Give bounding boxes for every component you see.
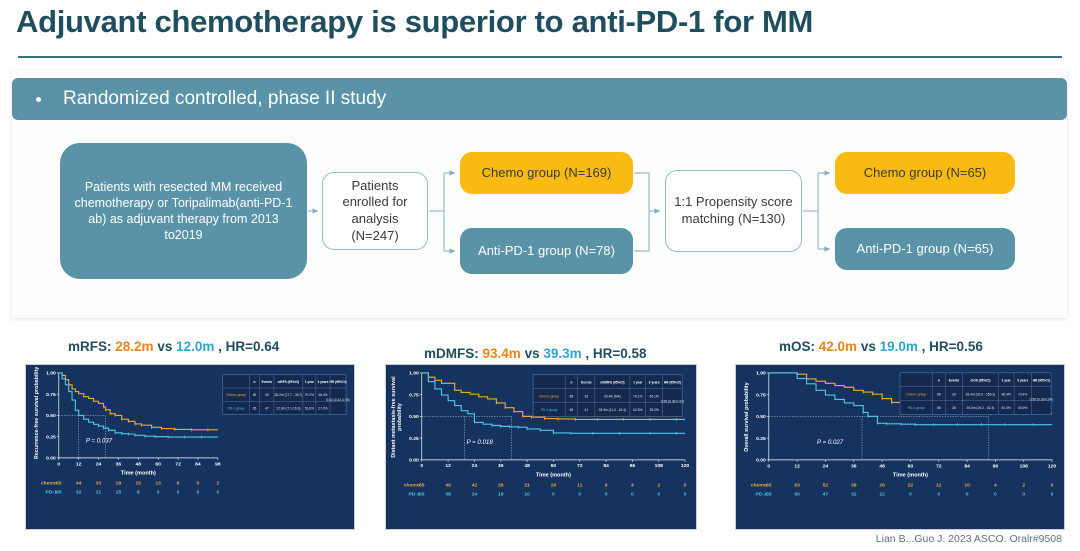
risk-value: 10 — [964, 483, 970, 489]
flow-node-patients: Patients with resected MM received chemo… — [60, 143, 307, 279]
caption-os-vs: vs — [861, 339, 876, 354]
risk-value: 32 — [76, 489, 82, 495]
svg-text:mDMFS (95%CI): mDMFS (95%CI) — [600, 380, 624, 384]
risk-value: 0 — [909, 491, 912, 497]
risk-label-chemo: chemo — [41, 481, 57, 487]
risk-value: 65 — [56, 481, 62, 487]
stats-table-dmfs: nEventsmDMFS (95%CI)1 year3 yearsHR (95%… — [533, 375, 684, 416]
svg-text:0: 0 — [57, 461, 60, 467]
risk-label-chemo: chemo — [751, 483, 767, 489]
risk-value: 33 — [96, 481, 102, 487]
svg-text:93.4m (31.6 - 155.2): 93.4m (31.6 - 155.2) — [966, 392, 996, 396]
study-design-banner: Randomized controlled, phase II study — [12, 78, 1067, 120]
risk-value: 26 — [879, 483, 885, 489]
svg-text:12: 12 — [794, 463, 800, 469]
svg-text:92.3%: 92.3% — [1001, 406, 1010, 410]
svg-text:1 year: 1 year — [633, 380, 643, 384]
svg-text:3 years: 3 years — [317, 380, 328, 384]
svg-text:96: 96 — [993, 463, 999, 469]
risk-value: 38 — [445, 491, 451, 497]
caption-dmfs-hr: , HR=0.58 — [585, 346, 646, 361]
risk-value: 22 — [908, 483, 914, 489]
km-curve-pd-1-group — [59, 373, 218, 437]
study-design-text: Randomized controlled, phase II study — [63, 88, 386, 110]
svg-text:Chemo group: Chemo group — [539, 394, 559, 398]
svg-text:65: 65 — [570, 394, 574, 398]
risk-value: 15 — [116, 489, 122, 495]
svg-text:93.4m (NA): 93.4m (NA) — [604, 394, 621, 398]
risk-value: 0 — [684, 483, 687, 489]
flow-node-chemo-pre: Chemo group (N=169) — [460, 152, 633, 194]
risk-value: 2 — [216, 481, 219, 487]
risk-value: 44 — [76, 481, 82, 487]
svg-text:96: 96 — [215, 461, 221, 467]
svg-text:P = 0.018: P = 0.018 — [467, 439, 494, 446]
risk-value: 0 — [197, 489, 200, 495]
svg-text:0.75: 0.75 — [46, 392, 56, 398]
svg-text:0.50: 0.50 — [756, 414, 766, 420]
svg-text:3 years: 3 years — [1017, 378, 1028, 382]
svg-text:108: 108 — [1020, 463, 1029, 469]
risk-value: 0 — [1051, 483, 1054, 489]
km-chart-rfs: 0.000.250.500.751.0001224364860728496Tim… — [26, 365, 354, 529]
caption-os-chemo: 42.0m — [819, 339, 857, 354]
svg-text:0.58 (0.36-0.93): 0.58 (0.36-0.93) — [661, 400, 684, 404]
km-curve-chemo-group — [59, 373, 218, 430]
svg-text:3 years: 3 years — [649, 380, 660, 384]
svg-text:Time (month): Time (month) — [121, 471, 156, 477]
flow-node-enrolled: Patients enrolled for analysis (N=247) — [322, 172, 428, 250]
risk-value: 0 — [157, 489, 160, 495]
svg-text:48: 48 — [136, 461, 142, 467]
risk-value: 15 — [136, 481, 142, 487]
svg-text:65: 65 — [253, 406, 257, 410]
svg-text:HR (95%CI): HR (95%CI) — [330, 380, 347, 384]
svg-text:84: 84 — [195, 461, 201, 467]
km-plot-os: 0.000.250.500.751.0001224364860728496108… — [735, 364, 1065, 530]
caption-os-prefix: mOS: — [779, 339, 815, 354]
svg-text:79.1%: 79.1% — [633, 394, 642, 398]
svg-text:36: 36 — [116, 461, 122, 467]
caption-os: mOS: 42.0m vs 19.0m , HR=0.56 — [779, 339, 983, 354]
svg-text:38.2%: 38.2% — [650, 408, 659, 412]
svg-text:Events: Events — [581, 380, 592, 384]
risk-value: 26 — [498, 483, 504, 489]
svg-text:n: n — [570, 380, 572, 384]
svg-text:60: 60 — [155, 461, 161, 467]
risk-value: 32 — [851, 491, 857, 497]
svg-text:PD-1 group: PD-1 group — [541, 408, 558, 412]
svg-text:120: 120 — [681, 463, 690, 469]
caption-dmfs: mDMFS: 93.4m vs 39.3m , HR=0.58 — [424, 346, 647, 361]
svg-text:12: 12 — [76, 461, 82, 467]
risk-value: 2 — [657, 483, 660, 489]
stats-table-os: nEventsmOS (95%CI)1 year3 yearsHR (95%CI… — [900, 373, 1053, 414]
risk-value: 0 — [994, 491, 997, 497]
svg-text:24: 24 — [823, 463, 829, 469]
svg-text:1.00: 1.00 — [409, 371, 419, 377]
svg-text:12: 12 — [445, 463, 451, 469]
svg-text:33: 33 — [585, 394, 589, 398]
risk-value: 60 — [794, 491, 800, 497]
svg-text:48: 48 — [524, 463, 530, 469]
svg-text:mRFS (95%CI): mRFS (95%CI) — [278, 380, 300, 384]
svg-text:36: 36 — [851, 463, 857, 469]
risk-value: 65 — [766, 491, 772, 497]
svg-text:n: n — [938, 378, 940, 382]
caption-dmfs-pd1: 39.3m — [543, 346, 581, 361]
svg-text:HR (95%CI): HR (95%CI) — [664, 380, 681, 384]
bullet-dot-icon — [36, 97, 41, 102]
svg-text:HR (95%CI): HR (95%CI) — [1033, 378, 1050, 382]
risk-value: 13 — [155, 481, 161, 487]
flow-node-propensity: 1:1 Propensity score matching (N=130) — [665, 170, 802, 252]
risk-value: 12 — [936, 483, 942, 489]
risk-value: 21 — [524, 483, 530, 489]
risk-value: 47 — [823, 491, 829, 497]
svg-text:84: 84 — [964, 463, 970, 469]
svg-text:40: 40 — [265, 393, 269, 397]
risk-value: 0 — [937, 491, 940, 497]
caption-rfs: mRFS: 28.2m vs 12.0m , HR=0.64 — [68, 339, 279, 354]
svg-text:PD-1 group: PD-1 group — [228, 406, 245, 410]
caption-dmfs-vs: vs — [525, 346, 540, 361]
svg-text:n: n — [254, 380, 256, 384]
svg-text:0.00: 0.00 — [409, 458, 419, 464]
risk-value: 52 — [823, 483, 829, 489]
risk-value: 65 — [766, 483, 772, 489]
risk-value: 8 — [137, 489, 140, 495]
svg-text:0.64 (0.42-0.98): 0.64 (0.42-0.98) — [326, 398, 349, 402]
svg-text:60.1%: 60.1% — [650, 394, 659, 398]
risk-value: 19 — [116, 481, 122, 487]
svg-text:60: 60 — [551, 463, 557, 469]
svg-text:98.4%: 98.4% — [1001, 392, 1010, 396]
caption-os-hr: , HR=0.56 — [922, 339, 983, 354]
caption-rfs-chemo: 28.2m — [115, 339, 153, 354]
y-axis-label-dmfs: Distant metastasis-free survival probabi… — [392, 373, 404, 461]
svg-text:96: 96 — [630, 463, 636, 469]
risk-value: 0 — [631, 491, 634, 497]
km-plot-rfs: 0.000.250.500.751.0001224364860728496Tim… — [25, 364, 355, 530]
flow-node-pd1-post: Anti-PD-1 group (N=65) — [835, 228, 1015, 270]
svg-text:27.2%: 27.2% — [318, 406, 327, 410]
caption-rfs-vs: vs — [157, 339, 172, 354]
risk-value: 5 — [197, 481, 200, 487]
risk-value: 21 — [96, 489, 102, 495]
svg-text:0.00: 0.00 — [756, 458, 766, 464]
svg-text:29: 29 — [952, 392, 956, 396]
svg-text:Events: Events — [262, 380, 273, 384]
svg-text:73.4%: 73.4% — [1018, 392, 1027, 396]
svg-text:Time (month): Time (month) — [536, 473, 571, 479]
study-flowchart: Patients with resected MM received chemo… — [12, 126, 1067, 316]
svg-text:Time (month): Time (month) — [893, 473, 928, 479]
svg-text:38: 38 — [952, 406, 956, 410]
svg-text:84: 84 — [603, 463, 609, 469]
caption-rfs-prefix: mRFS: — [68, 339, 112, 354]
risk-value: 4 — [994, 483, 997, 489]
svg-text:P = 0.027: P = 0.027 — [817, 439, 844, 446]
svg-text:54.9%: 54.9% — [1018, 406, 1027, 410]
km-chart-os: 0.000.250.500.751.0001224364860728496108… — [736, 365, 1064, 529]
svg-text:0.25: 0.25 — [409, 436, 419, 442]
svg-text:108: 108 — [655, 463, 664, 469]
risk-value: 63 — [794, 483, 800, 489]
risk-value: 0 — [578, 491, 581, 497]
svg-text:0.25: 0.25 — [756, 436, 766, 442]
svg-text:12.0m (7.1-16.9): 12.0m (7.1-16.9) — [276, 406, 300, 410]
svg-text:62.5%: 62.5% — [633, 408, 642, 412]
page-title: Adjuvant chemotherapy is superior to ant… — [16, 4, 813, 40]
risk-value: 38 — [851, 483, 857, 489]
caption-dmfs-prefix: mDMFS: — [424, 346, 479, 361]
risk-value: 65 — [56, 489, 62, 495]
km-chart-dmfs: 0.000.250.500.751.0001224364860728496108… — [386, 365, 696, 529]
stats-table-rfs: nEventsmRFS (95%CI)1 year3 yearsHR (95%C… — [223, 375, 350, 415]
caption-dmfs-chemo: 93.4m — [483, 346, 521, 361]
risk-value: 19 — [498, 491, 504, 497]
risk-value: 12 — [879, 491, 885, 497]
y-axis-label-os: Overall survival probability — [744, 373, 750, 461]
svg-text:72: 72 — [577, 463, 583, 469]
svg-text:41: 41 — [585, 408, 589, 412]
y-axis-label-rfs: Recurrence-free survival probability — [34, 373, 40, 459]
risk-value: 0 — [552, 491, 555, 497]
svg-text:24: 24 — [472, 463, 478, 469]
svg-text:24: 24 — [96, 461, 102, 467]
svg-text:70.2%: 70.2% — [305, 393, 314, 397]
risk-value: 65 — [419, 483, 425, 489]
svg-text:65: 65 — [937, 392, 941, 396]
risk-value: 0 — [1022, 491, 1025, 497]
svg-text:48: 48 — [879, 463, 885, 469]
svg-text:39.3m (11.0 - 26.4): 39.3m (11.0 - 26.4) — [599, 408, 626, 412]
svg-text:0.25: 0.25 — [46, 434, 56, 440]
risk-value: 11 — [577, 483, 582, 489]
svg-text:36: 36 — [498, 463, 504, 469]
svg-text:0.75: 0.75 — [756, 392, 766, 398]
risk-value: 19 — [551, 483, 557, 489]
svg-text:0: 0 — [420, 463, 423, 469]
risk-value: 0 — [177, 489, 180, 495]
risk-value: 0 — [966, 491, 969, 497]
risk-value: 4 — [631, 483, 634, 489]
svg-text:65: 65 — [570, 408, 574, 412]
flow-node-pd1-pre: Anti-PD-1 group (N=78) — [460, 228, 633, 274]
flow-node-chemo-post: Chemo group (N=65) — [835, 152, 1015, 194]
risk-value: 49 — [445, 483, 451, 489]
risk-value: 2 — [1022, 483, 1025, 489]
svg-text:1 year: 1 year — [1002, 378, 1012, 382]
citation-footer: Lian B...Guo J. 2023 ASCO. Oralr#9508 — [876, 533, 1062, 545]
risk-value: 0 — [684, 491, 687, 497]
svg-text:0.75: 0.75 — [409, 392, 419, 398]
svg-text:47: 47 — [265, 406, 269, 410]
svg-text:65: 65 — [937, 406, 941, 410]
svg-text:48.4%: 48.4% — [318, 393, 327, 397]
svg-text:28.2m (17.7 - 38.7): 28.2m (17.7 - 38.7) — [274, 393, 302, 397]
caption-os-pd1: 19.0m — [880, 339, 918, 354]
svg-text:0.56 (0.33-0.94): 0.56 (0.33-0.94) — [1030, 398, 1053, 402]
svg-text:1.00: 1.00 — [756, 371, 766, 377]
svg-text:120: 120 — [1048, 463, 1057, 469]
svg-text:51.6%: 51.6% — [305, 406, 314, 410]
svg-text:0.50: 0.50 — [409, 414, 419, 420]
svg-text:65: 65 — [253, 393, 257, 397]
svg-text:Chemo group: Chemo group — [906, 392, 926, 396]
svg-text:72: 72 — [936, 463, 942, 469]
svg-text:0: 0 — [767, 463, 770, 469]
risk-value: 10 — [524, 491, 530, 497]
svg-text:Events: Events — [949, 378, 960, 382]
caption-rfs-pd1: 12.0m — [176, 339, 214, 354]
risk-value: 42 — [472, 483, 478, 489]
risk-value: 0 — [1051, 491, 1054, 497]
risk-value: 6 — [177, 481, 180, 487]
risk-value: 0 — [605, 491, 608, 497]
svg-text:P = 0.037: P = 0.037 — [86, 438, 113, 445]
risk-value: 0 — [657, 491, 660, 497]
svg-text:60: 60 — [908, 463, 914, 469]
km-plot-dmfs: 0.000.250.500.751.0001224364860728496108… — [385, 364, 697, 530]
svg-text:1.00: 1.00 — [46, 371, 56, 377]
svg-text:72: 72 — [175, 461, 181, 467]
svg-text:0.50: 0.50 — [46, 413, 56, 419]
svg-text:Chemo group: Chemo group — [226, 393, 246, 397]
risk-value: 65 — [419, 491, 425, 497]
risk-value: 9 — [605, 483, 608, 489]
title-divider — [18, 56, 1062, 58]
svg-text:1 year: 1 year — [305, 380, 315, 384]
svg-text:mOS (95%CI): mOS (95%CI) — [971, 378, 991, 382]
svg-text:39.3m (29.2 - 52.4): 39.3m (29.2 - 52.4) — [967, 406, 995, 410]
caption-rfs-hr: , HR=0.64 — [218, 339, 279, 354]
risk-value: 24 — [472, 491, 478, 497]
content-card: Randomized controlled, phase II study — [12, 70, 1067, 318]
risk-label-chemo: chemo — [404, 483, 420, 489]
svg-text:0.00: 0.00 — [46, 456, 56, 462]
risk-value: 0 — [216, 489, 219, 495]
svg-text:PD-1 group: PD-1 group — [908, 406, 925, 410]
